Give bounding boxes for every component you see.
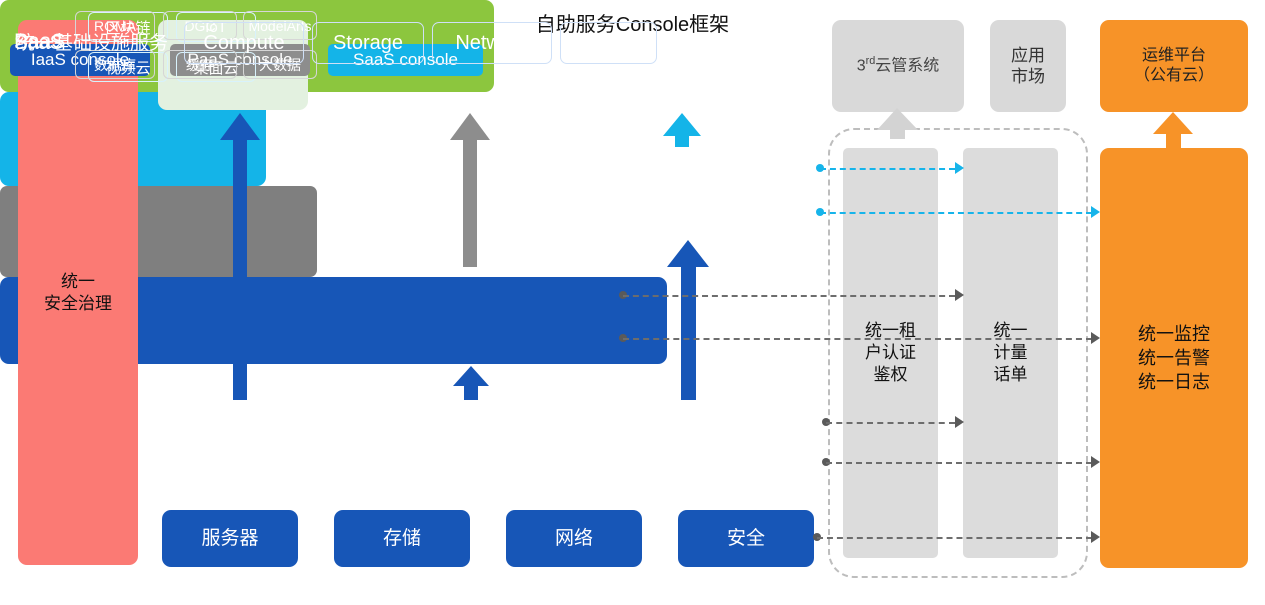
hardware-storage-box: 存储 — [334, 510, 470, 567]
hardware-network-box: 网络 — [506, 510, 642, 567]
connector-paas-to-metering — [623, 295, 955, 297]
arrow-saas-to-saas-console — [663, 113, 701, 147]
shared-service-tenant-auth-column: 统一租 户认证 鉴权 — [843, 148, 938, 558]
connector-arrowhead-infra-1 — [955, 416, 964, 428]
connector-hardware-to-ops — [817, 537, 1092, 539]
app-market-box: 应用 市场 — [990, 20, 1066, 112]
arrow-infra-to-paas — [453, 366, 489, 400]
infra-service-cce[interactable]: CCE — [560, 22, 657, 64]
connector-saas-to-metering — [820, 168, 955, 170]
connector-arrowhead-paas-1 — [955, 289, 964, 301]
arrow-paas-to-console — [450, 113, 490, 267]
connector-arrowhead-infra-2 — [1091, 456, 1100, 468]
architecture-diagram: 统一 安全治理 API网关 自助服务Console框架 IaaS console… — [0, 0, 1265, 605]
arrow-infra-to-saas — [667, 240, 709, 400]
hardware-server-box: 服务器 — [162, 510, 298, 567]
connector-arrowhead-hardware — [1091, 531, 1100, 543]
security-governance-column: 统一 安全治理 — [18, 20, 138, 565]
third-party-label-sup: rd — [866, 55, 876, 67]
ops-platform-monitoring-column: 统一监控 统一告警 统一日志 — [1100, 148, 1248, 568]
connector-arrowhead-saas-1 — [955, 162, 964, 174]
connector-saas-to-ops — [820, 212, 1092, 214]
arrow-ops-column-to-ops-platform — [1153, 112, 1193, 148]
shared-service-metering-billing-column: 统一 计量 话单 — [963, 148, 1058, 558]
infra-service-storage[interactable]: Storage — [312, 22, 424, 64]
connector-paas-to-ops — [623, 338, 1092, 340]
connector-arrowhead-saas-2 — [1091, 206, 1100, 218]
connector-arrowhead-paas-2 — [1091, 332, 1100, 344]
connector-infra-to-ops — [826, 462, 1092, 464]
connector-infra-to-metering — [826, 422, 955, 424]
infra-service-compute[interactable]: Compute — [184, 22, 304, 64]
infra-service-network[interactable]: Network — [432, 22, 552, 64]
third-party-cloud-management-box: 3rd云管系统 — [832, 20, 964, 112]
third-party-label-prefix: 3 — [857, 58, 866, 75]
infrastructure-label: 统一基础设施服务 — [16, 28, 168, 55]
third-party-label-suffix: 云管系统 — [875, 58, 939, 75]
ops-platform-public-cloud-box: 运维平台 （公有云） — [1100, 20, 1248, 112]
hardware-security-box: 安全 — [678, 510, 814, 567]
